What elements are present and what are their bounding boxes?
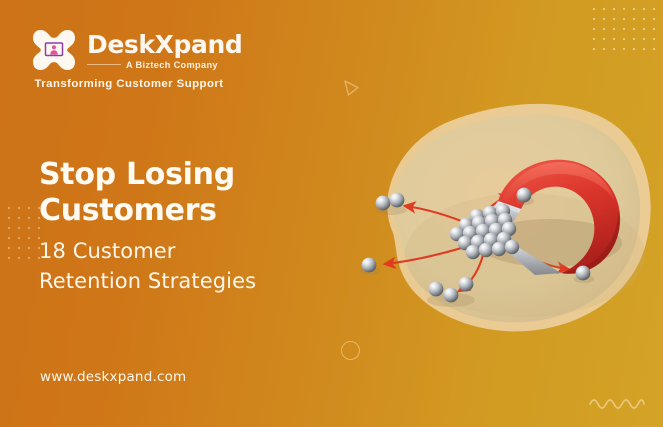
headline-block: Stop Losing Customers 18 Customer Retent… [39, 157, 339, 296]
circle-outline-icon [341, 341, 360, 360]
subheadline-line-1: 18 Customer [39, 238, 339, 266]
headline-line-2: Customers [39, 193, 339, 229]
website-url[interactable]: www.deskxpand.com [40, 369, 186, 385]
magnet-illustration [335, 95, 660, 335]
brand-logo[interactable]: DeskXpand A Biztech Company Transforming… [31, 28, 236, 90]
brand-subtitle: A Biztech Company [126, 60, 218, 70]
brand-tagline: Transforming Customer Support [31, 78, 227, 90]
subheadline-line-2: Retention Strategies [39, 268, 339, 296]
wave-squiggle-icon [589, 394, 645, 410]
headline-line-1: Stop Losing [39, 157, 339, 193]
dot-grid-icon-left [4, 203, 40, 261]
logo-text-block: DeskXpand A Biztech Company [87, 31, 242, 70]
deskxpand-x-mark-icon [31, 28, 77, 72]
promo-banner: DeskXpand A Biztech Company Transforming… [0, 0, 663, 427]
divider-rule [87, 64, 121, 65]
brand-name: DeskXpand [87, 32, 242, 57]
logo-row: DeskXpand A Biztech Company [31, 28, 236, 72]
brand-subtitle-row: A Biztech Company [87, 60, 242, 70]
dot-grid-icon-top-right [589, 4, 663, 50]
